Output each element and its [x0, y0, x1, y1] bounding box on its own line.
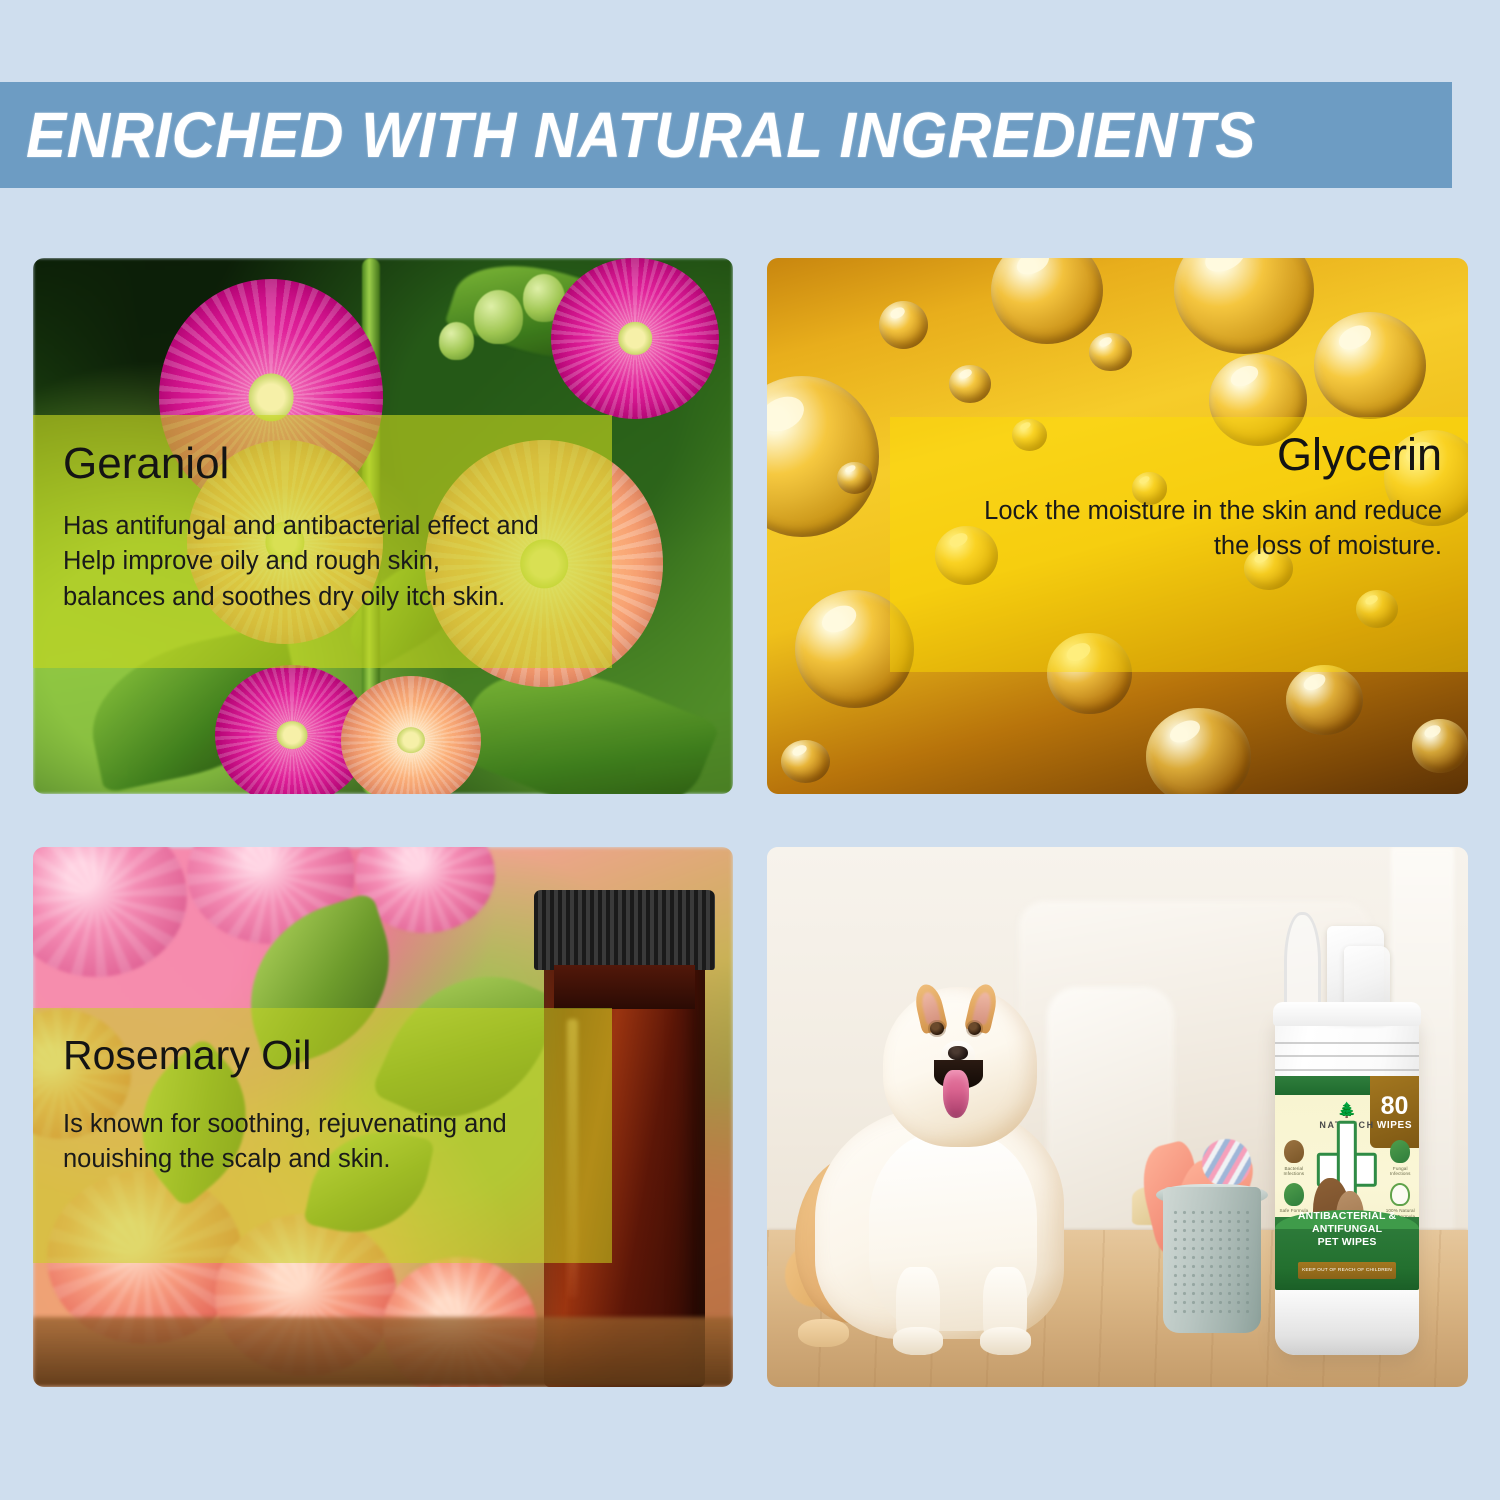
wipes-count-badge: 80 WIPES [1370, 1076, 1419, 1149]
page-title: ENRICHED WITH NATURAL INGREDIENTS [26, 98, 1256, 172]
badge-bacterial-icon [1284, 1140, 1304, 1164]
glycerin-text-overlay: Glycerin Lock the moisture in the skin a… [890, 417, 1468, 672]
product-canister: 80 WIPES 🌲 NATOUCH Bacterial Infections … [1275, 1014, 1419, 1354]
desc-line: the loss of moisture. [916, 529, 1442, 564]
product-name-line2: PET WIPES [1275, 1236, 1419, 1249]
product-photo-card: 80 WIPES 🌲 NATOUCH Bacterial Infections … [767, 847, 1468, 1387]
corgi-dog [795, 955, 1131, 1355]
desc-line: Help improve oily and rough skin, [63, 544, 582, 579]
ingredient-description: Has antifungal and antibacterial effect … [63, 509, 582, 615]
desc-line: Lock the moisture in the skin and reduce [916, 494, 1442, 529]
wipes-count-number: 80 [1381, 1094, 1409, 1119]
toy-ball [1202, 1139, 1251, 1188]
badge-fungal-label: Fungal Infections [1384, 1166, 1416, 1177]
ingredient-card-rosemary: Rosemary Oil Is known for soothing, reju… [33, 847, 733, 1387]
toy-bucket [1163, 1187, 1261, 1333]
product-warning: KEEP OUT OF REACH OF CHILDREN [1298, 1262, 1396, 1279]
ingredient-description: Is known for soothing, rejuvenating and … [63, 1107, 582, 1177]
ingredient-card-glycerin: Glycerin Lock the moisture in the skin a… [767, 258, 1468, 794]
product-label: 80 WIPES 🌲 NATOUCH Bacterial Infections … [1275, 1076, 1419, 1290]
badge-bacterial-label: Bacterial Infections [1278, 1166, 1310, 1177]
product-photo: 80 WIPES 🌲 NATOUCH Bacterial Infections … [767, 847, 1468, 1387]
geraniol-text-overlay: Geraniol Has antifungal and antibacteria… [33, 415, 612, 668]
ingredient-description: Lock the moisture in the skin and reduce… [916, 494, 1442, 564]
dog-eye [930, 1022, 943, 1035]
product-name-line1: ANTIBACTERIAL & ANTIFUNGAL [1275, 1210, 1419, 1236]
ingredient-card-geraniol: Geraniol Has antifungal and antibacteria… [33, 258, 733, 794]
header-banner: ENRICHED WITH NATURAL INGREDIENTS [0, 82, 1452, 188]
badge-fungal-icon [1390, 1140, 1410, 1164]
ingredient-title: Glycerin [916, 431, 1442, 478]
dog-tongue [943, 1070, 969, 1118]
desc-line: balances and soothes dry oily itch skin. [63, 580, 582, 615]
desc-line: nouishing the scalp and skin. [63, 1142, 582, 1177]
ingredient-title: Rosemary Oil [63, 1034, 582, 1077]
rosemary-text-overlay: Rosemary Oil Is known for soothing, reju… [33, 1008, 612, 1263]
tree-icon: 🌲 [1338, 1103, 1357, 1118]
ingredient-title: Geraniol [63, 441, 582, 487]
desc-line: Is known for soothing, rejuvenating and [63, 1107, 582, 1142]
badge-safe-icon [1284, 1183, 1304, 1207]
desc-line: Has antifungal and antibacterial effect … [63, 509, 582, 544]
product-name: ANTIBACTERIAL & ANTIFUNGAL PET WIPES [1275, 1210, 1419, 1249]
badge-natural-icon [1390, 1183, 1410, 1207]
dog-eye [968, 1022, 981, 1035]
wipes-count-unit: WIPES [1377, 1121, 1412, 1131]
